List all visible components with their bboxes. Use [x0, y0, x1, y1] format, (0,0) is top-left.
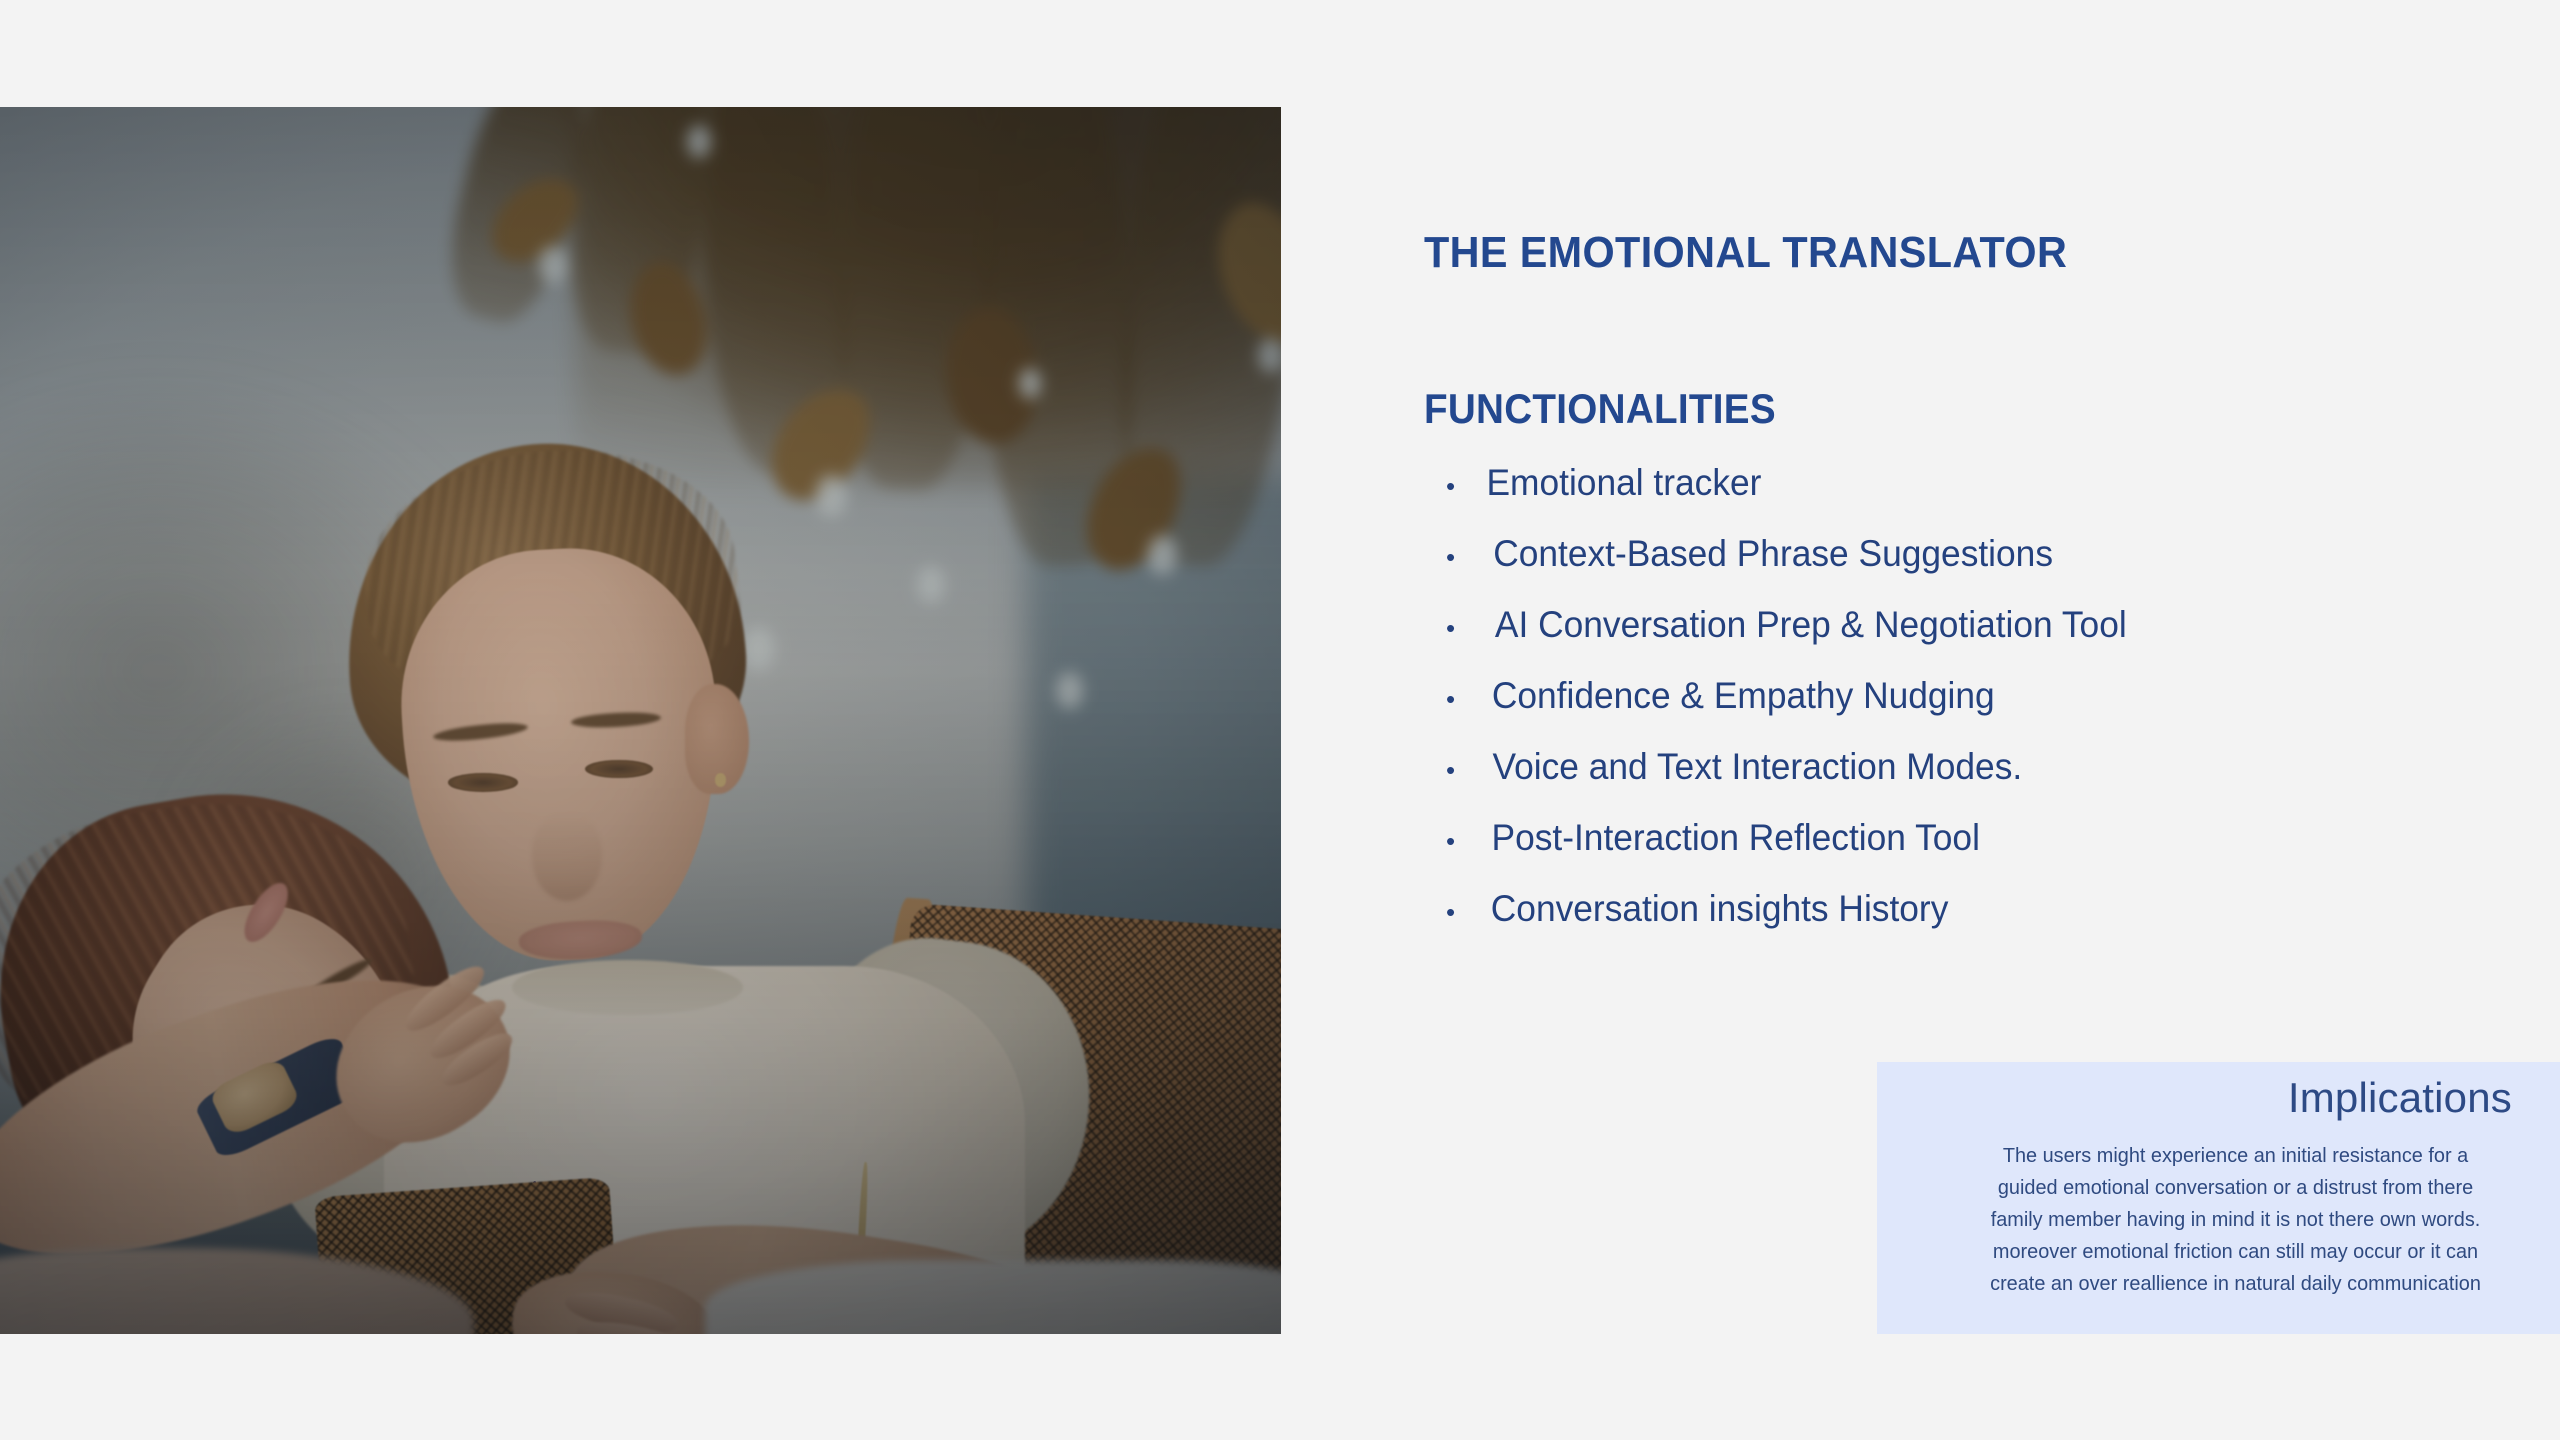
list-item-label: AI Conversation Prep & Negotiation Tool [1495, 604, 2127, 646]
photo-composition [0, 107, 1281, 1334]
photo-vignette [0, 107, 1281, 1334]
list-item: • Context-Based Phrase Suggestions [1446, 533, 2142, 604]
list-item-label: Voice and Text Interaction Modes. [1492, 746, 2022, 788]
bullet-icon: • [1446, 615, 1480, 641]
implications-callout: Implications The users might experience … [1877, 1062, 2560, 1334]
bullet-icon: • [1446, 899, 1480, 925]
hero-photo [0, 107, 1281, 1334]
implications-line: guided emotional conversation or a distr… [1946, 1172, 2525, 1204]
list-item: • Post-Interaction Reflection Tool [1446, 817, 2142, 888]
list-item: • Conversation insights History [1446, 888, 2142, 959]
list-item-label: Post-Interaction Reflection Tool [1492, 817, 1980, 859]
list-item: • Voice and Text Interaction Modes. [1446, 746, 2142, 817]
implications-line: family member having in mind it is not t… [1946, 1204, 2525, 1236]
functionalities-list: • Emotional tracker • Context-Based Phra… [1446, 462, 2142, 959]
slide-canvas: THE EMOTIONAL TRANSLATOR FUNCTIONALITIES… [0, 0, 2560, 1440]
implications-line: moreover emotional friction can still ma… [1946, 1236, 2525, 1268]
bullet-icon: • [1446, 473, 1480, 499]
implications-body: The users might experience an initial re… [1937, 1140, 2534, 1300]
section-heading-functionalities: FUNCTIONALITIES [1424, 385, 1776, 433]
list-item-label: Context-Based Phrase Suggestions [1493, 533, 2053, 575]
implications-line: create an over reallience in natural dai… [1946, 1268, 2525, 1300]
bullet-icon: • [1446, 828, 1480, 854]
implications-heading: Implications [2288, 1074, 2512, 1122]
bullet-icon: • [1446, 544, 1480, 570]
list-item-label: Conversation insights History [1491, 888, 1949, 930]
list-item: • Confidence & Empathy Nudging [1446, 675, 2142, 746]
list-item-label: Confidence & Empathy Nudging [1492, 675, 1995, 717]
list-item: • Emotional tracker [1446, 462, 2142, 533]
page-title: THE EMOTIONAL TRANSLATOR [1424, 228, 2067, 278]
implications-line: The users might experience an initial re… [1946, 1140, 2525, 1172]
bullet-icon: • [1446, 757, 1480, 783]
list-item-label: Emotional tracker [1486, 462, 1761, 504]
list-item: • AI Conversation Prep & Negotiation Too… [1446, 604, 2142, 675]
bullet-icon: • [1446, 686, 1480, 712]
